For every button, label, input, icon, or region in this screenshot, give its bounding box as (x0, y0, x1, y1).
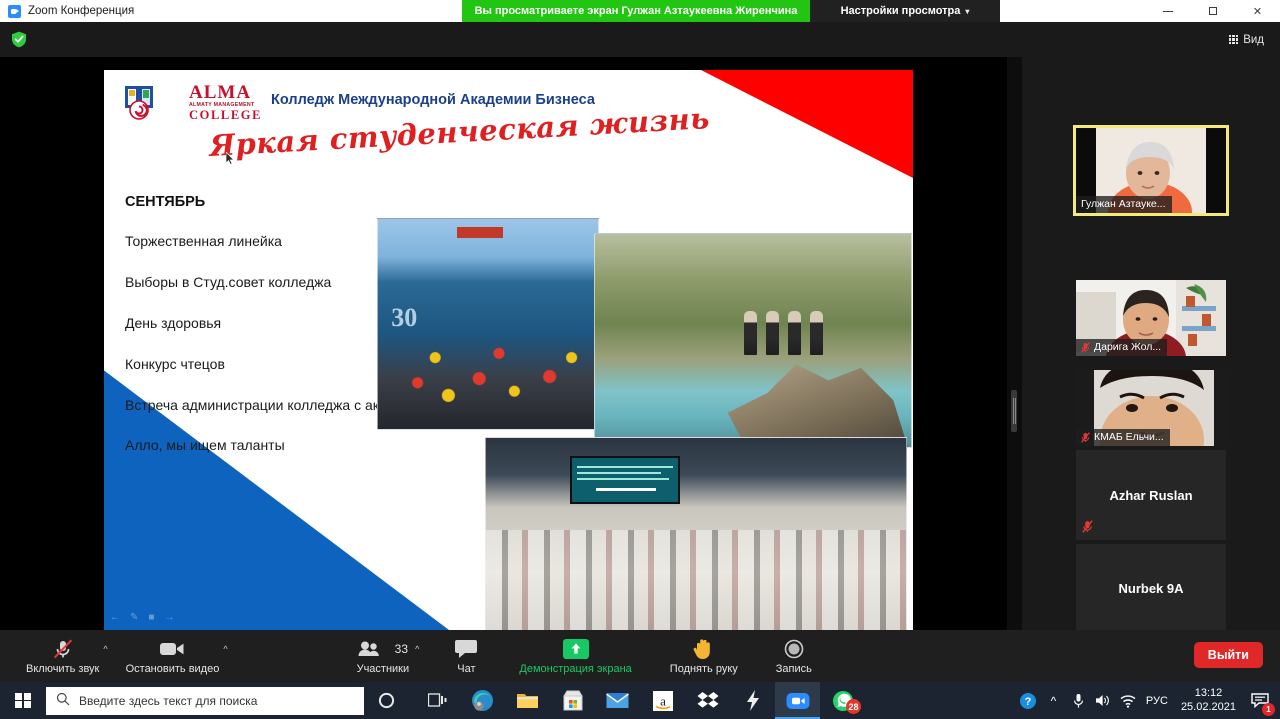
participant-tile[interactable]: Nurbek 9A (1076, 544, 1226, 632)
edge-icon[interactable] (460, 682, 505, 719)
svg-text:?: ? (1025, 696, 1032, 708)
taskbar-clock[interactable]: 13:12 25.02.2021 (1173, 687, 1244, 715)
green-shield-check-icon[interactable] (11, 31, 27, 48)
window-title-bar: Zoom Конференция Вы просматриваете экран… (0, 0, 1280, 22)
panel-resize-handle[interactable] (1011, 390, 1017, 432)
microphone-icon[interactable] (1066, 682, 1091, 719)
zoom-meeting-toolbar: Включить звук ^ Остановить видео ^ ​ 33 … (0, 630, 1280, 682)
participant-name-text: КМАБ Ельчи... (1094, 431, 1164, 443)
close-button[interactable]: ✕ (1235, 0, 1280, 22)
maximize-icon (1209, 7, 1217, 15)
projector-screen (570, 456, 680, 504)
minimize-icon (1163, 11, 1173, 12)
participant-name-text: Дарига Жол... (1094, 341, 1161, 353)
task-view-icon[interactable] (415, 682, 460, 719)
chat-label: Чат (457, 663, 475, 675)
whatsapp-badge-count: 28 (846, 699, 861, 714)
start-button[interactable] (0, 682, 46, 719)
system-tray: ? ^ РУС 13:12 25.02.2021 1 (1016, 682, 1280, 719)
participant-name-text: Гулжан Азтауке... (1081, 198, 1166, 210)
share-screen-label: Демонстрация экрана (519, 663, 631, 675)
chevron-down-icon: ▾ (965, 7, 969, 16)
prev-slide-arrow-icon[interactable]: ← (110, 612, 120, 623)
window-controls: ✕ (1000, 0, 1280, 22)
taskbar-search-placeholder: Введите здесь текст для поиска (79, 694, 257, 708)
slide-photo-conference-hall (485, 437, 907, 630)
rock-shape (728, 357, 908, 447)
participants-count: 33 (395, 642, 408, 656)
mouse-cursor-icon (226, 152, 235, 165)
cortana-circle-icon[interactable] (364, 682, 409, 719)
participant-name-label: КМАБ Ельчи... (1076, 429, 1170, 446)
participant-tile[interactable]: Дарига Жол... (1076, 280, 1226, 356)
amazon-icon[interactable]: a (640, 682, 685, 719)
view-button[interactable]: Вид (1223, 31, 1270, 49)
mail-icon[interactable] (595, 682, 640, 719)
slide-photo-mountain-lake (594, 233, 912, 448)
pen-tool-icon[interactable]: ✎ (130, 612, 138, 623)
wifi-icon[interactable] (1116, 682, 1141, 719)
whatsapp-icon[interactable]: 28 (820, 682, 865, 719)
close-icon: ✕ (1253, 5, 1262, 18)
raise-hand-label: Поднять руку (670, 663, 738, 675)
building-number: 30 (391, 303, 417, 333)
title-bar-left: Zoom Конференция (0, 5, 462, 18)
window-title: Zoom Конференция (28, 5, 134, 17)
people-group (744, 311, 823, 355)
participants-label: Участники (357, 663, 410, 675)
grid-icon (1229, 35, 1239, 45)
help-circle-icon[interactable]: ? (1016, 682, 1041, 719)
record-button[interactable]: Запись (776, 630, 812, 682)
slide-menu-icon[interactable]: ■ (148, 612, 154, 623)
shared-screen-area[interactable]: ALMA ALMATY MANAGEMENT COLLEGE Колледж М… (0, 57, 1007, 630)
slide-red-triangle-decoration (701, 70, 913, 178)
participant-name-label: Гулжан Азтауке... (1076, 196, 1172, 213)
view-options-label: Настройки просмотра (841, 5, 961, 17)
raised-hand-icon (693, 638, 714, 660)
presentation-slide: ALMA ALMATY MANAGEMENT COLLEGE Колледж М… (104, 70, 913, 630)
view-options-button[interactable]: Настройки просмотра ▾ (810, 0, 1000, 22)
audio-options-chevron-icon[interactable]: ^ (103, 644, 107, 654)
raise-hand-button[interactable]: Поднять руку (670, 630, 738, 682)
windows-logo-icon (15, 693, 31, 709)
chat-button[interactable]: Чат (455, 630, 477, 682)
video-options-chevron-icon[interactable]: ^ (223, 644, 227, 654)
participant-tile[interactable]: Гулжан Азтауке... (1073, 125, 1229, 216)
share-screen-up-arrow-icon (563, 638, 589, 660)
dropbox-icon[interactable] (685, 682, 730, 719)
taskbar-app-icons: a 28 (415, 682, 865, 719)
leave-meeting-button[interactable]: Выйти (1194, 642, 1263, 668)
maximize-button[interactable] (1190, 0, 1235, 22)
participant-name-text: Azhar Ruslan (1076, 450, 1226, 540)
powerpoint-slide-controls[interactable]: ← ✎ ■ → (110, 612, 174, 623)
slide-photo-balloons: 30 (377, 218, 599, 430)
microsoft-store-icon[interactable] (550, 682, 595, 719)
zoom-icon (8, 5, 21, 18)
seated-audience (486, 530, 906, 630)
minimize-button[interactable] (1145, 0, 1190, 22)
participant-tile[interactable]: Azhar Ruslan (1076, 450, 1226, 540)
participant-name-text: Nurbek 9A (1076, 544, 1226, 632)
next-slide-arrow-icon[interactable]: → (164, 612, 174, 623)
people-icon: ​ 33 (358, 638, 408, 660)
participants-chevron-icon[interactable]: ^ (415, 644, 419, 654)
participants-video-panel: Гулжан Азтауке... (1022, 57, 1280, 630)
lightning-app-icon[interactable] (730, 682, 775, 719)
zoom-icon[interactable] (775, 682, 820, 719)
speaker-icon[interactable] (1091, 682, 1116, 719)
windows-taskbar: Введите здесь текст для поиска (0, 682, 1280, 719)
meeting-stage: ALMA ALMATY MANAGEMENT COLLEGE Колледж М… (0, 57, 1280, 630)
share-screen-button[interactable]: Демонстрация экрана (519, 630, 631, 682)
zoom-top-strip: Вид (0, 22, 1280, 57)
view-button-label: Вид (1243, 34, 1264, 46)
chevron-up-icon[interactable]: ^ (1041, 682, 1066, 719)
file-explorer-icon[interactable] (505, 682, 550, 719)
record-circle-icon (784, 638, 804, 660)
unmute-audio-label: Включить звук (26, 663, 99, 675)
slide-month-heading: СЕНТЯБРЬ (125, 194, 490, 210)
language-indicator[interactable]: РУС (1141, 682, 1173, 719)
participant-tile[interactable]: КМАБ Ельчи... (1076, 370, 1226, 446)
clock-time: 13:12 (1195, 687, 1223, 701)
building-sign (457, 227, 503, 238)
alma-logo-text: ALMA ALMATY MANAGEMENT COLLEGE (189, 83, 262, 122)
stop-video-label: Остановить видео (126, 663, 220, 675)
record-label: Запись (776, 663, 812, 675)
mic-muted-icon (1082, 520, 1093, 533)
svg-text:a: a (660, 693, 666, 708)
mic-muted-icon (1081, 432, 1090, 443)
taskbar-search-input[interactable]: Введите здесь текст для поиска (46, 687, 364, 715)
clock-date: 25.02.2021 (1181, 701, 1236, 715)
search-icon (56, 692, 70, 709)
participant-name-label: Дарига Жол... (1076, 339, 1167, 356)
notifications-button[interactable]: 1 (1244, 682, 1276, 719)
mic-muted-icon (52, 638, 74, 660)
screen-share-banner: Вы просматриваете экран Гулжан Азтаукеев… (462, 0, 810, 22)
camera-icon (159, 638, 185, 660)
slide-college-title: Колледж Международной Академии Бизнеса (271, 92, 595, 112)
stop-video-button[interactable]: Остановить видео (126, 630, 220, 682)
logo-alma-text: ALMA (189, 83, 262, 102)
mic-muted-icon (1081, 342, 1090, 353)
alma-logo-icon (122, 82, 180, 122)
notifications-count: 1 (1262, 703, 1275, 716)
unmute-audio-button[interactable]: Включить звук (26, 630, 99, 682)
chat-bubble-icon (455, 638, 477, 660)
slide-list-item: Алло, мы ищем таланты (125, 436, 490, 455)
logo-college-text: COLLEGE (189, 109, 262, 122)
participants-button[interactable]: ​ 33 Участники (357, 630, 410, 682)
